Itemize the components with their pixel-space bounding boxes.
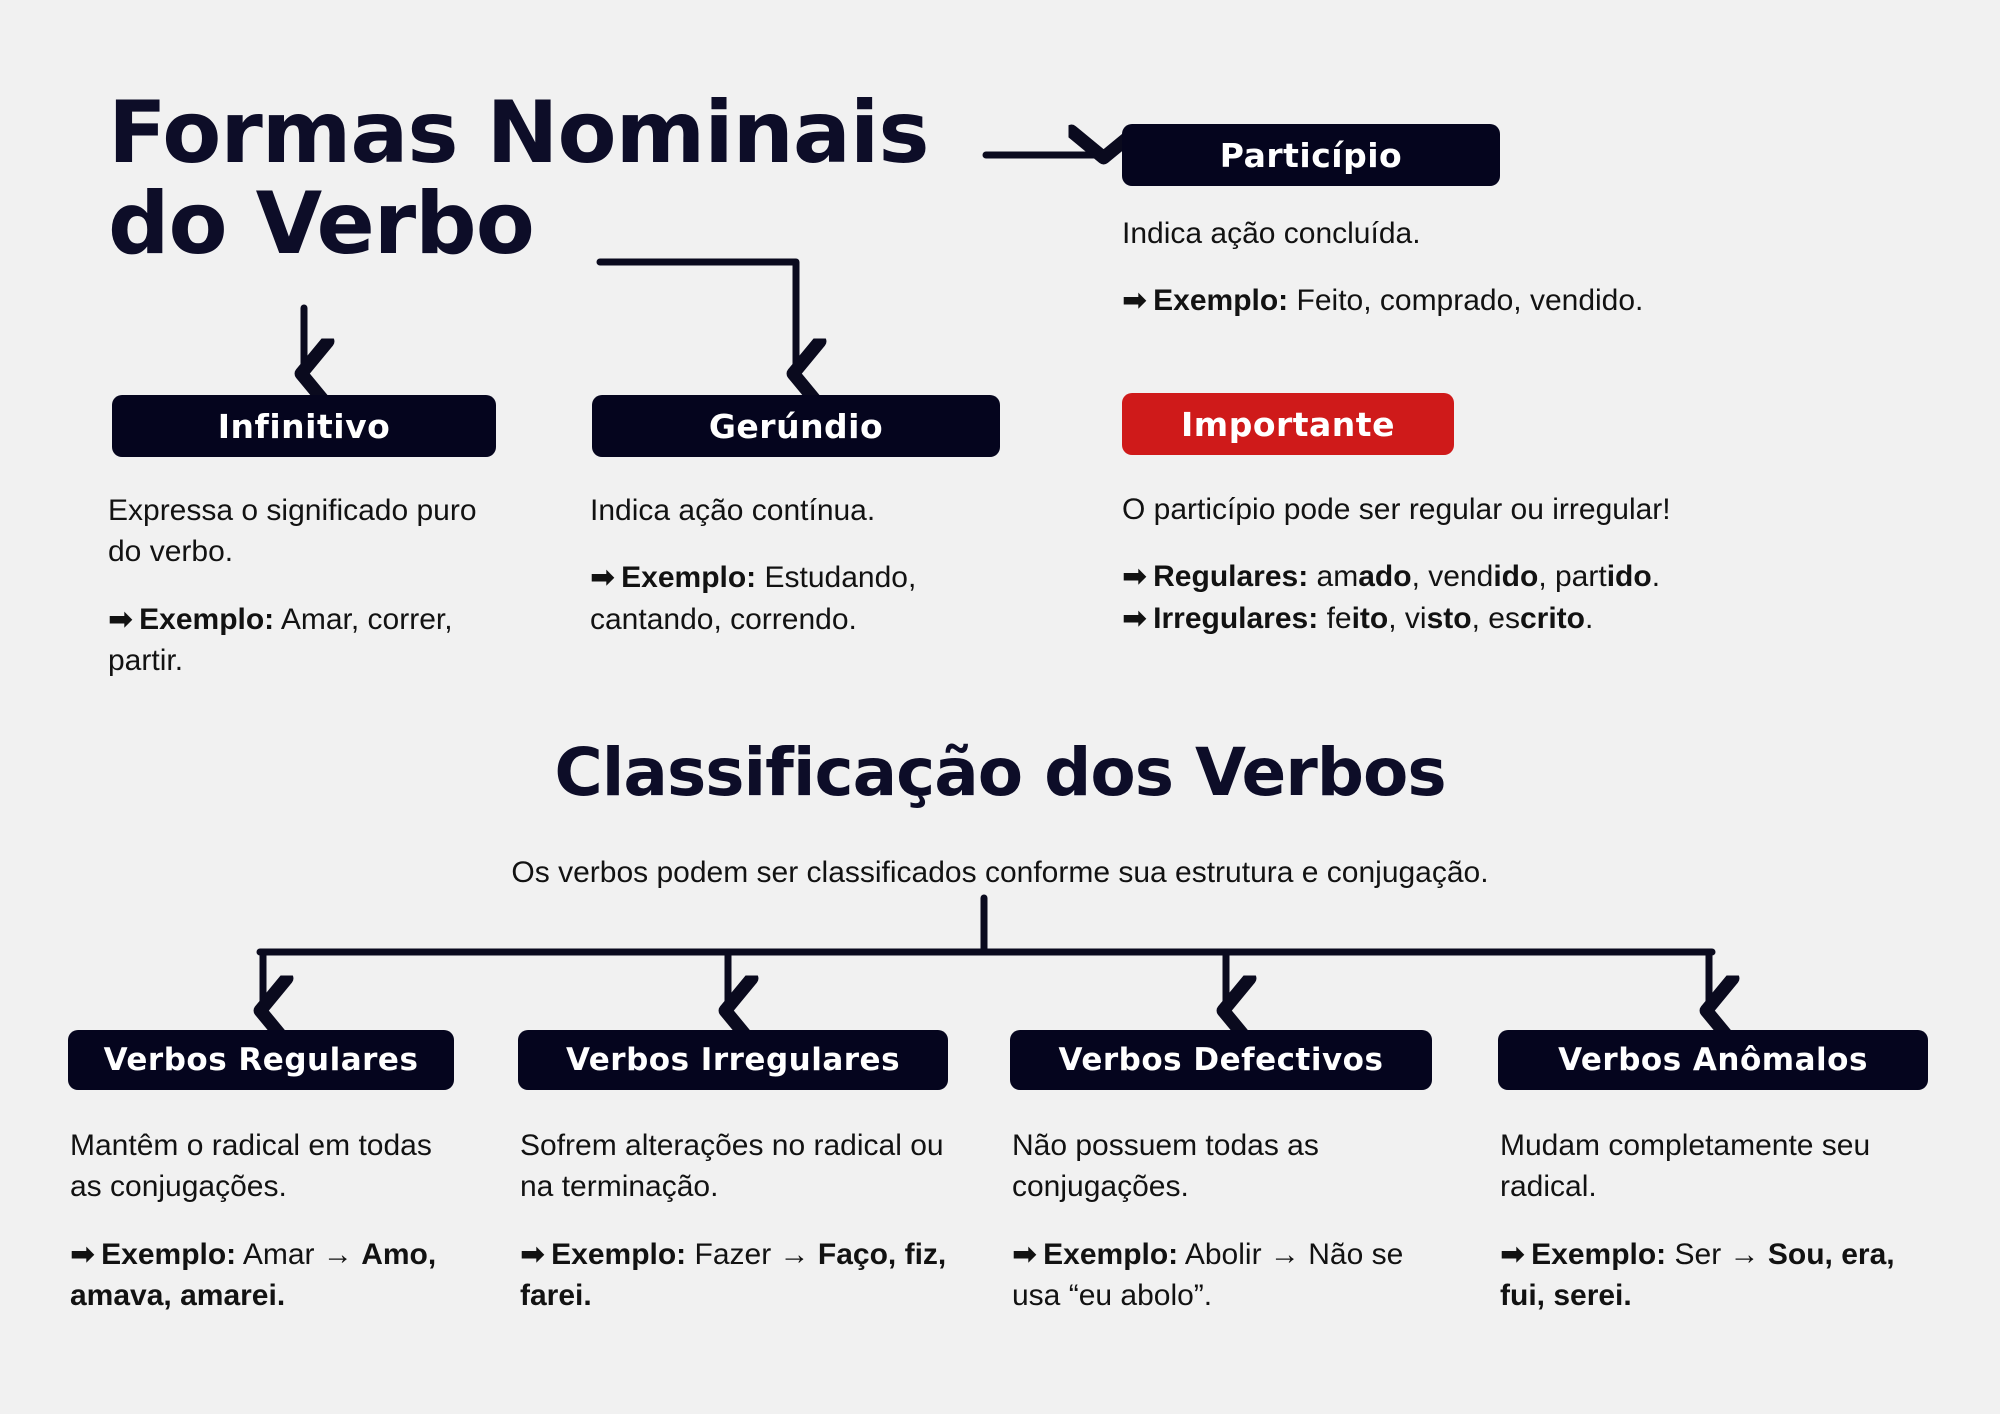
verbos-regulares-description: Mantêm o radical em todas as conjugações…: [70, 1125, 470, 1208]
bullet-arrow-icon: ➡: [590, 560, 615, 595]
block-gerundio: Indica ação contínua. ➡Exemplo: Estudand…: [590, 490, 1010, 640]
section-subtitle-classificacao: Os verbos podem ser classificados confor…: [0, 852, 2000, 893]
badge-verbos-irregulares[interactable]: Verbos Irregulares: [518, 1030, 948, 1090]
bullet-arrow-icon: ➡: [1122, 559, 1147, 594]
badge-infinitivo[interactable]: Infinitivo: [112, 395, 496, 457]
participio-example-text: Feito, comprado, vendido.: [1297, 284, 1644, 317]
spacer: [1500, 1208, 1940, 1234]
importante-irregulares: ➡Irregulares: feito, visto, escrito.: [1122, 598, 1842, 639]
verbos-defectivos-description: Não possuem todas as conjugações.: [1012, 1125, 1442, 1208]
bullet-arrow-icon: ➡: [70, 1237, 95, 1272]
regulares-lead: Regulares:: [1153, 560, 1308, 593]
spacer: [520, 1208, 970, 1234]
participio-example: ➡Exemplo: Feito, comprado, vendido.: [1122, 280, 1822, 321]
bullet-arrow-icon: ➡: [520, 1237, 545, 1272]
participio-example-lead: Exemplo:: [1153, 284, 1288, 317]
block-importante: O particípio pode ser regular ou irregul…: [1122, 489, 1842, 639]
badge-verbos-defectivos[interactable]: Verbos Defectivos: [1010, 1030, 1432, 1090]
importante-regulares: ➡Regulares: amado, vendido, partido.: [1122, 556, 1842, 597]
verbos-anomalos-description: Mudam completamente seu radical.: [1500, 1125, 1940, 1208]
block-verbos-defectivos: Não possuem todas as conjugações. ➡Exemp…: [1012, 1125, 1442, 1317]
gerundio-example-lead: Exemplo:: [621, 561, 756, 594]
badge-importante[interactable]: Importante: [1122, 393, 1454, 455]
bullet-arrow-icon: ➡: [1122, 283, 1147, 318]
badge-gerundio[interactable]: Gerúndio: [592, 395, 1000, 457]
block-verbos-anomalos: Mudam completamente seu radical. ➡Exempl…: [1500, 1125, 1940, 1317]
badge-verbos-anomalos[interactable]: Verbos Anômalos: [1498, 1030, 1928, 1090]
participio-description: Indica ação concluída.: [1122, 213, 1822, 254]
bullet-arrow-icon: ➡: [1012, 1237, 1037, 1272]
block-verbos-regulares: Mantêm o radical em todas as conjugações…: [70, 1125, 470, 1317]
spacer: [1122, 530, 1842, 556]
gerundio-example: ➡Exemplo: Estudando, cantando, correndo.: [590, 557, 1010, 640]
verbos-irregulares-example-lead: Exemplo:: [551, 1238, 686, 1271]
section-title-classificacao: Classificação dos Verbos: [0, 738, 2000, 808]
infinitivo-example: ➡Exemplo: Amar, correr, partir.: [108, 599, 508, 682]
spacer: [1012, 1208, 1442, 1234]
verbos-regulares-example: ➡Exemplo: Amar → Amo, amava, amarei.: [70, 1234, 470, 1317]
verbos-defectivos-example: ➡Exemplo: Abolir → Não se usa “eu abolo”…: [1012, 1234, 1442, 1317]
verbos-anomalos-example: ➡Exemplo: Ser → Sou, era, fui, serei.: [1500, 1234, 1940, 1317]
badge-verbos-regulares[interactable]: Verbos Regulares: [68, 1030, 454, 1090]
infinitivo-description: Expressa o significado puro do verbo.: [108, 490, 508, 573]
spacer: [108, 573, 508, 599]
page-title-line-2: do Verbo: [108, 179, 938, 270]
verbos-regulares-example-normal: Amar →: [243, 1238, 353, 1271]
verbos-anomalos-example-lead: Exemplo:: [1531, 1238, 1666, 1271]
infographic-page: Formas Nominais do Verbo Particípio Indi…: [0, 0, 2000, 1414]
bullet-arrow-icon: ➡: [1500, 1237, 1525, 1272]
spacer: [1122, 254, 1822, 280]
verbos-irregulares-description: Sofrem alterações no radical ou na termi…: [520, 1125, 970, 1208]
verbos-irregulares-example-normal: Fazer →: [695, 1238, 810, 1271]
verbos-regulares-example-lead: Exemplo:: [101, 1238, 236, 1271]
gerundio-description: Indica ação contínua.: [590, 490, 1010, 531]
block-participio: Indica ação concluída. ➡Exemplo: Feito, …: [1122, 213, 1822, 322]
bullet-arrow-icon: ➡: [1122, 601, 1147, 636]
arrow-to-gerundio: [600, 262, 796, 368]
verbos-anomalos-example-normal: Ser →: [1675, 1238, 1760, 1271]
page-title-formas-nominais: Formas Nominais do Verbo: [108, 88, 938, 270]
page-title-line-1: Formas Nominais: [108, 88, 938, 179]
badge-participio[interactable]: Particípio: [1122, 124, 1500, 186]
infinitivo-example-lead: Exemplo:: [139, 603, 274, 636]
irregulares-values: feito, visto, escrito.: [1327, 602, 1594, 635]
verbos-irregulares-example: ➡Exemplo: Fazer → Faço, fiz, farei.: [520, 1234, 970, 1317]
verbos-defectivos-example-lead: Exemplo:: [1043, 1238, 1178, 1271]
importante-description: O particípio pode ser regular ou irregul…: [1122, 489, 1842, 530]
spacer: [590, 531, 1010, 557]
block-infinitivo: Expressa o significado puro do verbo. ➡E…: [108, 490, 508, 682]
bullet-arrow-icon: ➡: [108, 602, 133, 637]
classification-tree: [260, 898, 1712, 1005]
irregulares-lead: Irregulares:: [1153, 602, 1318, 635]
block-verbos-irregulares: Sofrem alterações no radical ou na termi…: [520, 1125, 970, 1317]
regulares-values: amado, vendido, partido.: [1317, 560, 1660, 593]
spacer: [70, 1208, 470, 1234]
